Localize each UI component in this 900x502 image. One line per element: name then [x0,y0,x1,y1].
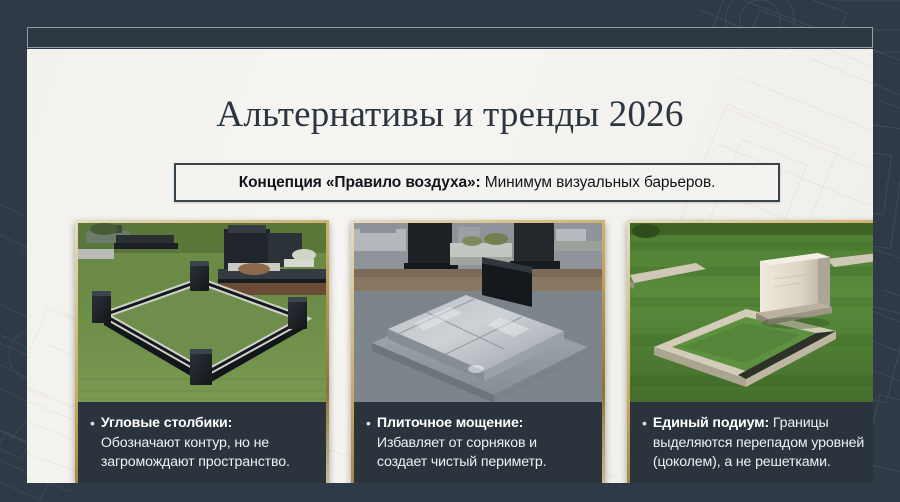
bullet-icon: • [90,414,95,433]
caption-body: Обозначают контур, но не загромождают пр… [101,435,290,471]
caption-text: Плиточное мощение: Избавляет от сорняков… [377,414,590,473]
card-tiled-paving[interactable]: • Плиточное мощение: Избавляет от сорняк… [351,220,605,483]
photo-grave-plot-with-corner-posts [78,223,326,402]
card-single-podium[interactable]: • Единый подиум: Границы выделяются пере… [627,220,873,483]
content-panel: Альтернативы и тренды 2026 Концепция «Пр… [27,49,873,483]
photo-granite-tiled-slab [354,223,602,402]
concept-label: Концепция «Правило воздуха»: [239,174,481,191]
page-title: Альтернативы и тренды 2026 [27,96,873,133]
caption-term: Плиточное мощение: [377,415,523,431]
photo-single-podium-headstone [630,223,873,402]
caption-text: Угловые столбики: Обозначают контур, но … [101,414,314,473]
caption-term: Угловые столбики: [101,415,232,431]
concept-banner: Концепция «Правило воздуха»: Минимум виз… [174,163,780,202]
caption-body: Избавляет от сорняков и создает чистый п… [377,435,546,471]
caption-term: Единый подиум: [653,415,769,431]
cards-row: • Угловые столбики: Обозначают контур, н… [75,220,873,483]
bullet-icon: • [366,414,371,433]
slide-stage: Альтернативы и тренды [0,0,900,502]
caption-text: Единый подиум: Границы выделяются перепа… [653,414,866,473]
card-caption: • Угловые столбики: Обозначают контур, н… [78,402,326,483]
bullet-icon: • [642,414,647,433]
card-corner-posts[interactable]: • Угловые столбики: Обозначают контур, н… [75,220,329,483]
card-caption: • Единый подиум: Границы выделяются пере… [630,402,873,483]
concept-text: Концепция «Правило воздуха»: Минимум виз… [239,174,716,192]
header-strip: Альтернативы и тренды [27,27,873,48]
card-caption: • Плиточное мощение: Избавляет от сорняк… [354,402,602,483]
concept-body: Минимум визуальных барьеров. [481,174,716,191]
